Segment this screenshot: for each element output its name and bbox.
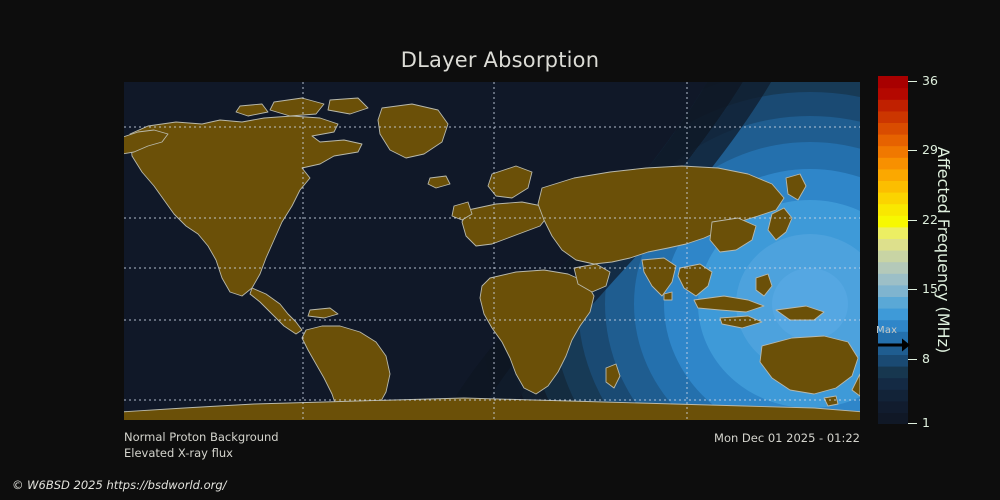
colorbar-cell <box>878 401 908 413</box>
colorbar-cell <box>878 285 908 297</box>
colorbar-cell <box>878 122 908 134</box>
colorbar-cell <box>878 262 908 274</box>
colorbar-cell <box>878 412 908 424</box>
note-xray-flux: Elevated X-ray flux <box>124 445 279 461</box>
colorbar-cell <box>878 88 908 100</box>
colorbar-cell <box>878 134 908 146</box>
colorbar[interactable] <box>878 76 908 424</box>
colorbar-tick: 8 <box>908 352 930 366</box>
page-title: DLayer Absorption <box>0 48 1000 72</box>
colorbar-axis-label: Affected Frequency (MHz) <box>928 76 958 424</box>
colorbar-cell <box>878 180 908 192</box>
max-marker-label: Max <box>876 325 897 336</box>
colorbar-cell <box>878 76 908 88</box>
colorbar-cell <box>878 273 908 285</box>
colorbar-cell <box>878 204 908 216</box>
note-proton-background: Normal Proton Background <box>124 429 279 445</box>
colorbar-cell <box>878 378 908 390</box>
colorbar-cell <box>878 146 908 158</box>
colorbar-cell <box>878 389 908 401</box>
colorbar-cell <box>878 157 908 169</box>
colorbar-cell <box>878 227 908 239</box>
timestamp: Mon Dec 01 2025 - 01:22 <box>560 431 860 445</box>
colorbar-cell <box>878 250 908 262</box>
absorption-map[interactable] <box>124 82 860 420</box>
colorbar-cell <box>878 354 908 366</box>
colorbar-cell <box>878 366 908 378</box>
max-marker: Max <box>866 325 910 355</box>
colorbar-cell <box>878 215 908 227</box>
footer-credit: © W6BSD 2025 https://bsdworld.org/ <box>12 478 227 492</box>
status-notes: Normal Proton Background Elevated X-ray … <box>124 429 279 461</box>
colorbar-cell <box>878 308 908 320</box>
colorbar-gradient <box>878 76 908 424</box>
colorbar-cell <box>878 169 908 181</box>
colorbar-cell <box>878 296 908 308</box>
colorbar-cell <box>878 192 908 204</box>
colorbar-tick: 1 <box>908 416 930 430</box>
colorbar-cell <box>878 99 908 111</box>
colorbar-cell <box>878 111 908 123</box>
colorbar-cell <box>878 238 908 250</box>
map-canvas[interactable] <box>124 82 860 420</box>
